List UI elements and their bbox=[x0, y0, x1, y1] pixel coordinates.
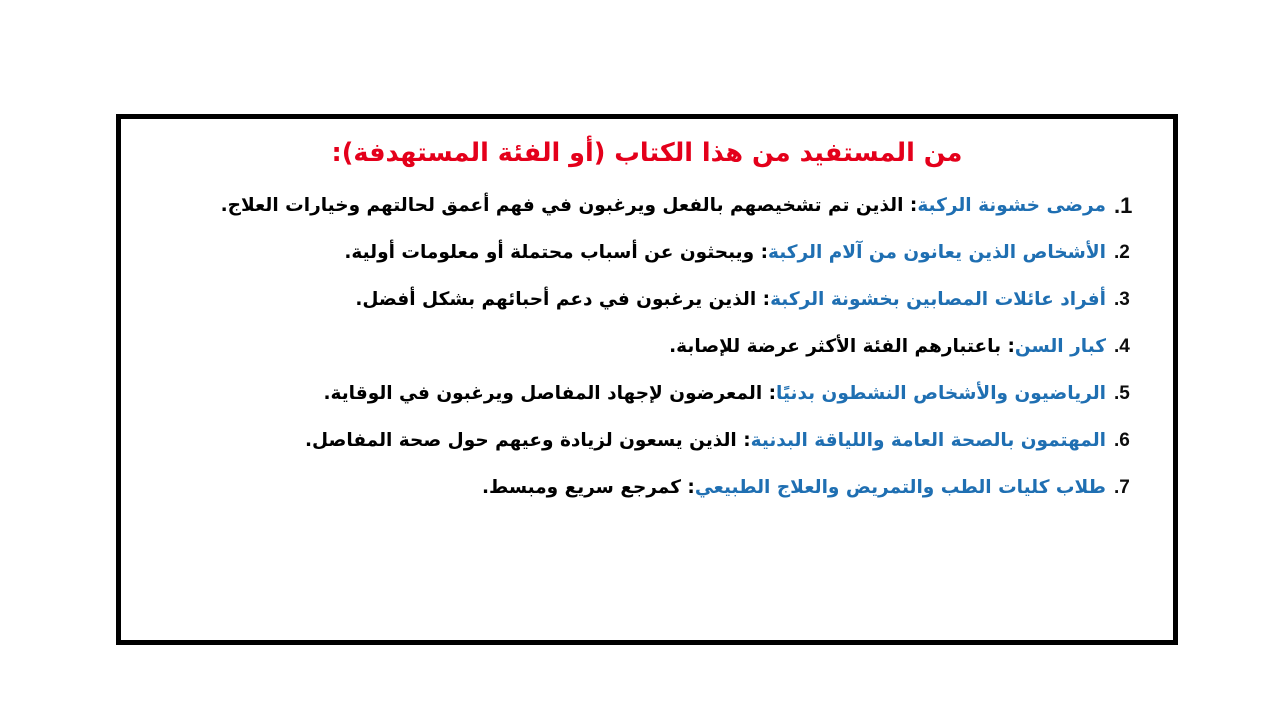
list-item-rest: : المعرضون لإجهاد المفاصل ويرغبون في الو… bbox=[323, 383, 776, 404]
list-item-lead: مرضى خشونة الركبة bbox=[917, 195, 1106, 216]
list-item: .1 مرضى خشونة الركبة: الذين تم تشخيصهم ب… bbox=[146, 182, 1148, 229]
list-item-rest: : كمرجع سريع ومبسط. bbox=[482, 477, 695, 498]
list-item-lead: أفراد عائلات المصابين بخشونة الركبة bbox=[770, 289, 1106, 310]
list-item-rest: : الذين يرغبون في دعم أحبائهم بشكل أفضل. bbox=[355, 289, 770, 310]
list-item: .6 المهتمون بالصحة العامة واللياقة البدن… bbox=[146, 417, 1148, 464]
list-item-number: .6 bbox=[1114, 417, 1148, 464]
list-item: .5 الرياضيون والأشخاص النشطون بدنيًا: ال… bbox=[146, 370, 1148, 417]
page-title: من المستفيد من هذا الكتاب (أو الفئة المس… bbox=[146, 138, 1148, 170]
list-item-lead: الأشخاص الذين يعانون من آلام الركبة bbox=[768, 242, 1106, 263]
list-item-lead: طلاب كليات الطب والتمريض والعلاج الطبيعي bbox=[695, 477, 1106, 498]
list-item-number: .7 bbox=[1114, 464, 1148, 511]
list-item-rest: : باعتبارهم الفئة الأكثر عرضة للإصابة. bbox=[669, 336, 1015, 357]
slide-canvas: من المستفيد من هذا الكتاب (أو الفئة المس… bbox=[0, 0, 1280, 720]
list-item-rest: : الذين تم تشخيصهم بالفعل ويرغبون في فهم… bbox=[221, 195, 918, 216]
list-item: .4 كبار السن: باعتبارهم الفئة الأكثر عرض… bbox=[146, 323, 1148, 370]
list-item-rest: : الذين يسعون لزيادة وعيهم حول صحة المفا… bbox=[305, 430, 751, 451]
list-item-number: .3 bbox=[1114, 276, 1148, 323]
list-item-number: .1 bbox=[1114, 182, 1148, 229]
list-item-number: .5 bbox=[1114, 370, 1148, 417]
list-item-rest: : ويبحثون عن أسباب محتملة أو معلومات أول… bbox=[344, 242, 768, 263]
slide-content: من المستفيد من هذا الكتاب (أو الفئة المس… bbox=[116, 114, 1178, 645]
list-item-lead: الرياضيون والأشخاص النشطون بدنيًا bbox=[776, 383, 1106, 404]
list-item-lead: المهتمون بالصحة العامة واللياقة البدنية bbox=[751, 430, 1106, 451]
list-item-number: .4 bbox=[1114, 323, 1148, 370]
list-item: .2 الأشخاص الذين يعانون من آلام الركبة: … bbox=[146, 229, 1148, 276]
list-item: .3 أفراد عائلات المصابين بخشونة الركبة: … bbox=[146, 276, 1148, 323]
list-item: .7 طلاب كليات الطب والتمريض والعلاج الطب… bbox=[146, 464, 1148, 511]
audience-list: .1 مرضى خشونة الركبة: الذين تم تشخيصهم ب… bbox=[146, 182, 1148, 511]
list-item-lead: كبار السن bbox=[1015, 336, 1106, 357]
list-item-number: .2 bbox=[1114, 229, 1148, 276]
